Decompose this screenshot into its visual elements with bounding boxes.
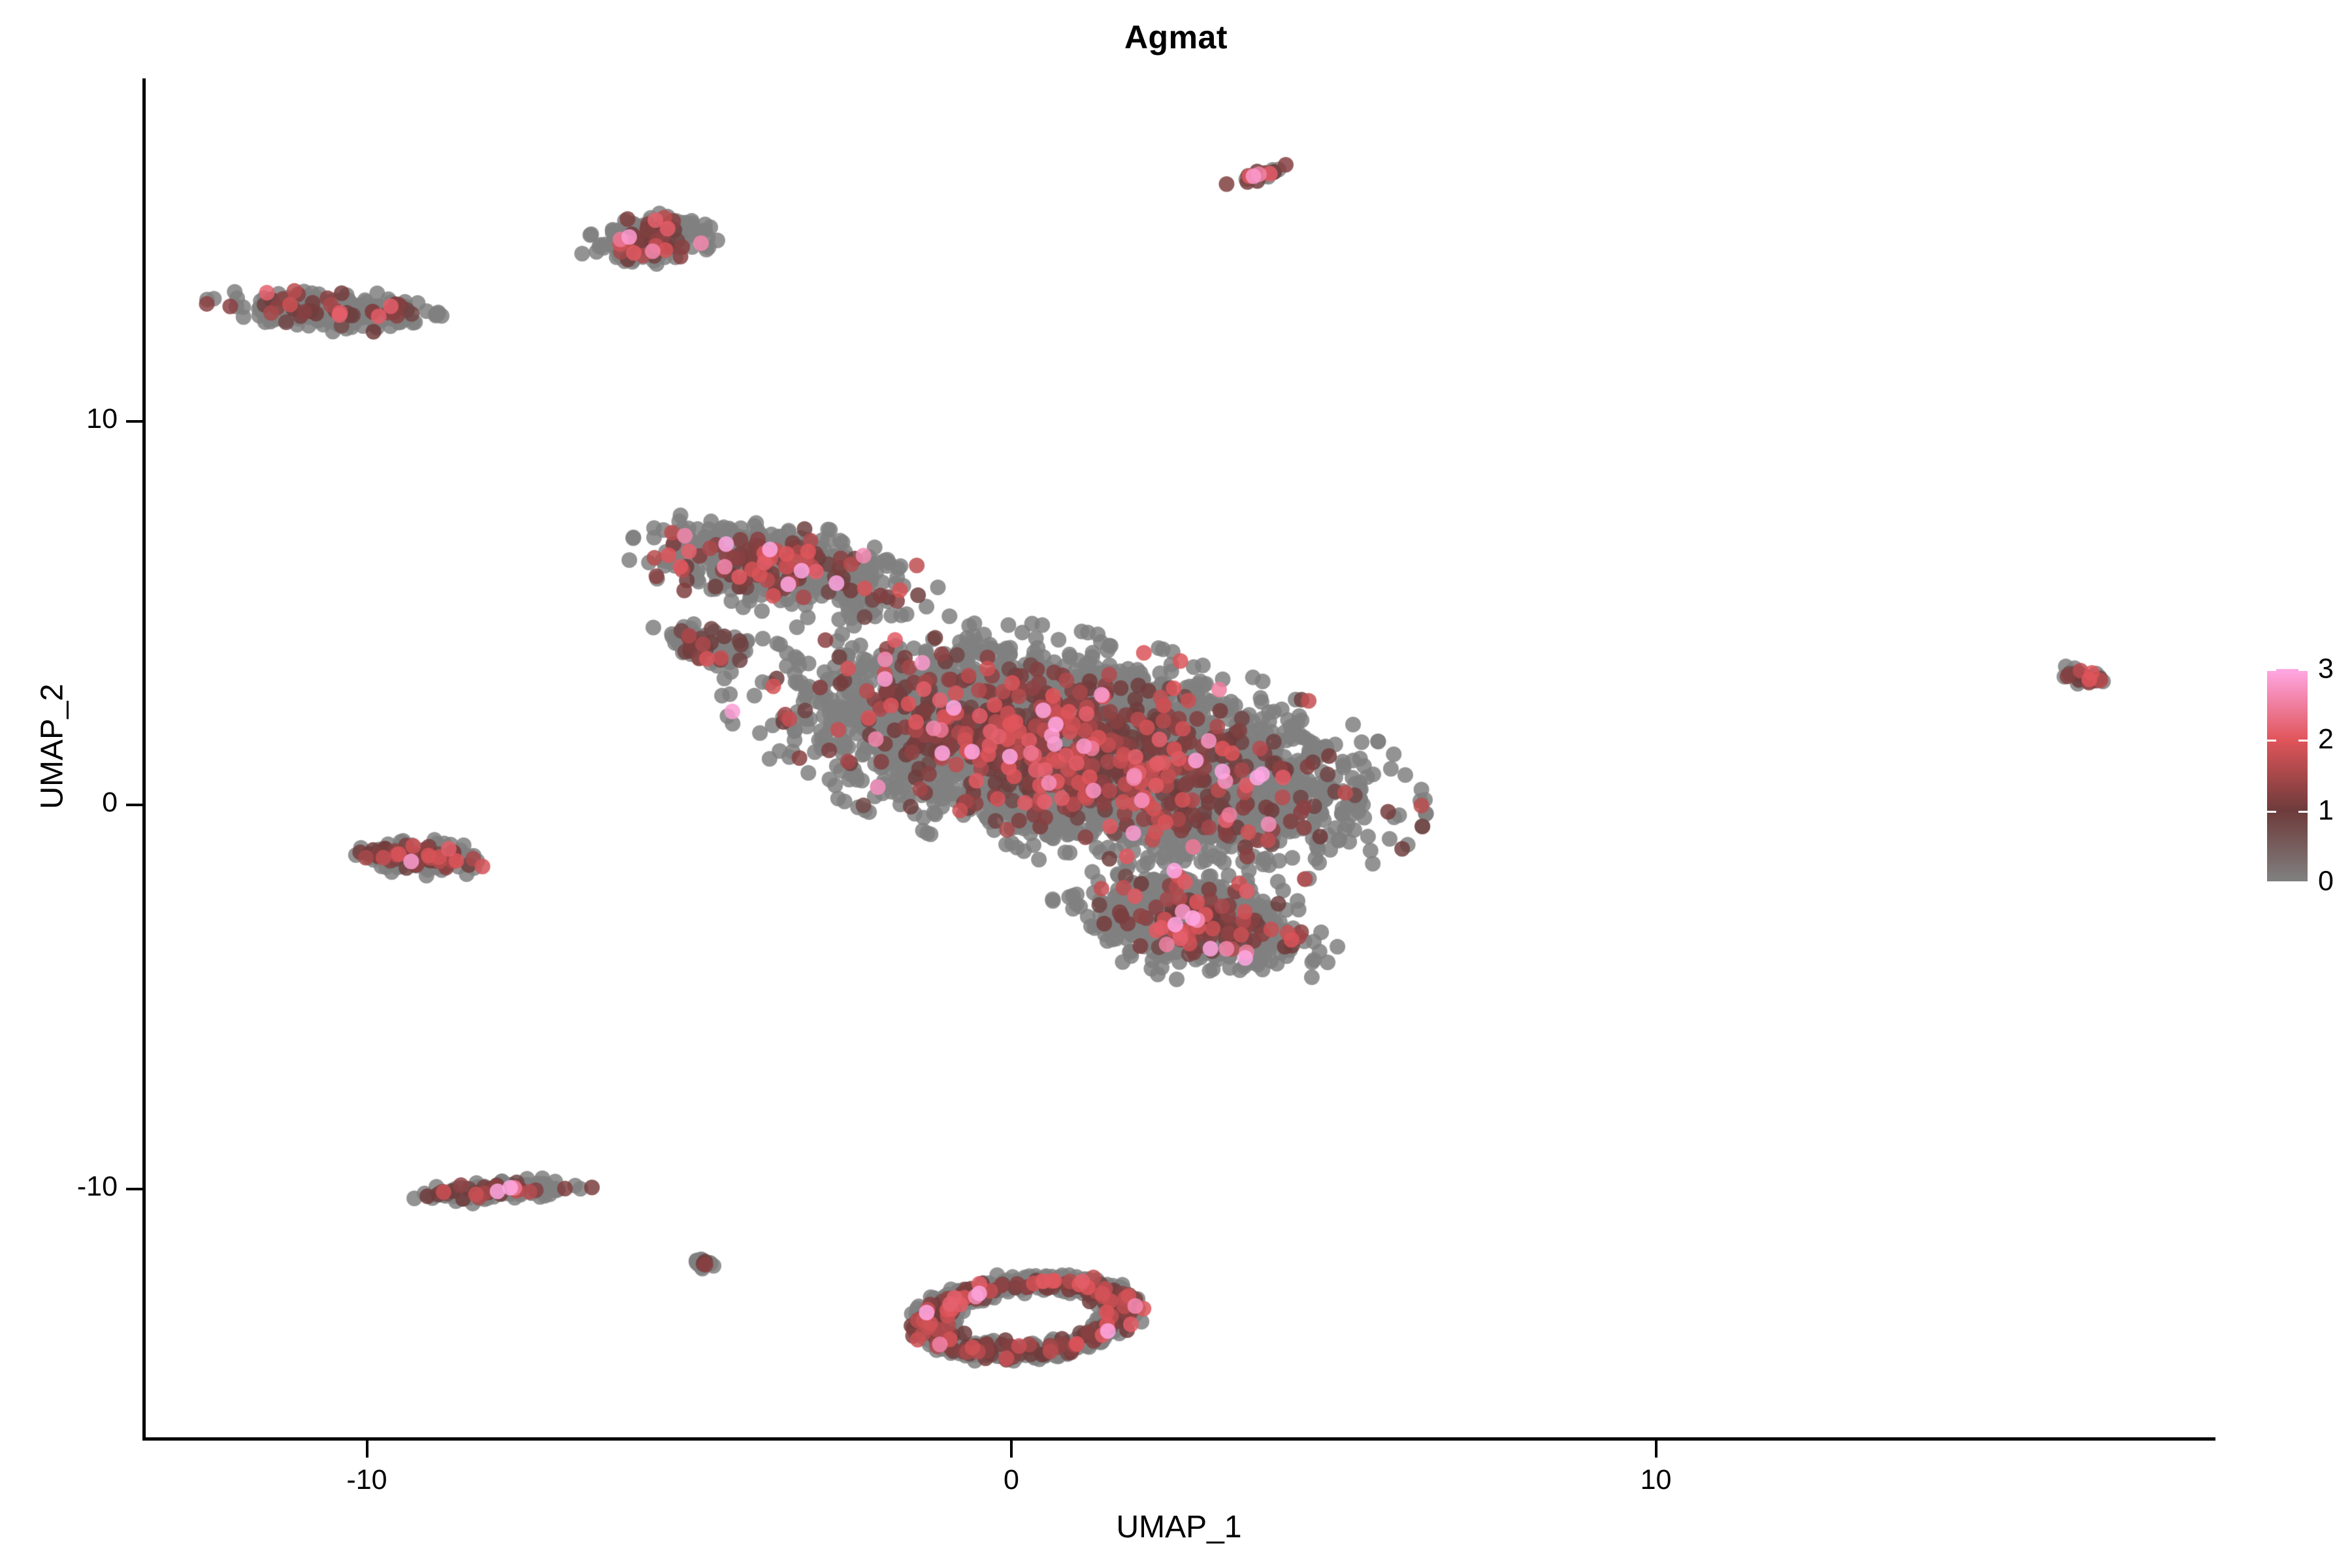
x-axis-line xyxy=(142,1437,2215,1441)
colorbar-tick xyxy=(2267,881,2276,883)
x-axis-tick-label: 10 xyxy=(1641,1464,1672,1496)
y-axis-line xyxy=(142,78,146,1441)
colorbar-tick xyxy=(2298,669,2308,671)
y-axis-tick xyxy=(126,1188,143,1190)
colorbar-tick xyxy=(2298,811,2308,813)
colorbar-tick xyxy=(2267,811,2276,813)
page-title: Agmat xyxy=(0,18,2352,56)
x-axis-tick xyxy=(1655,1441,1658,1458)
x-axis-tick-label: 0 xyxy=(1004,1464,1019,1496)
y-axis-tick-label: 0 xyxy=(102,787,118,819)
x-axis-tick xyxy=(1010,1441,1013,1458)
colorbar-tick xyxy=(2298,740,2308,742)
colorbar-label: 1 xyxy=(2318,794,2334,826)
colorbar-tick xyxy=(2267,740,2276,742)
colorbar-label: 0 xyxy=(2318,866,2334,898)
x-axis-tick xyxy=(366,1441,368,1458)
colorbar-legend: 3 2 1 0 xyxy=(2267,669,2345,891)
y-axis-tick xyxy=(126,804,143,806)
umap-feature-plot: Agmat 10 0 -10 -10 0 10 UMAP_1 UMAP_2 3 … xyxy=(0,0,2352,1568)
colorbar-tick xyxy=(2298,881,2308,883)
colorbar-gradient xyxy=(2267,669,2308,881)
colorbar-label: 2 xyxy=(2318,724,2334,756)
y-axis-tick xyxy=(126,420,143,423)
x-axis-title: UMAP_1 xyxy=(142,1509,2215,1545)
y-axis-title: UMAP_2 xyxy=(35,93,71,1400)
colorbar-label: 3 xyxy=(2318,653,2334,685)
scatter-plot-canvas xyxy=(144,78,2215,1439)
x-axis-tick-label: -10 xyxy=(346,1464,387,1496)
y-axis-tick-label: 10 xyxy=(86,403,118,435)
y-axis-tick-label: -10 xyxy=(77,1171,118,1203)
colorbar-tick xyxy=(2267,669,2276,671)
